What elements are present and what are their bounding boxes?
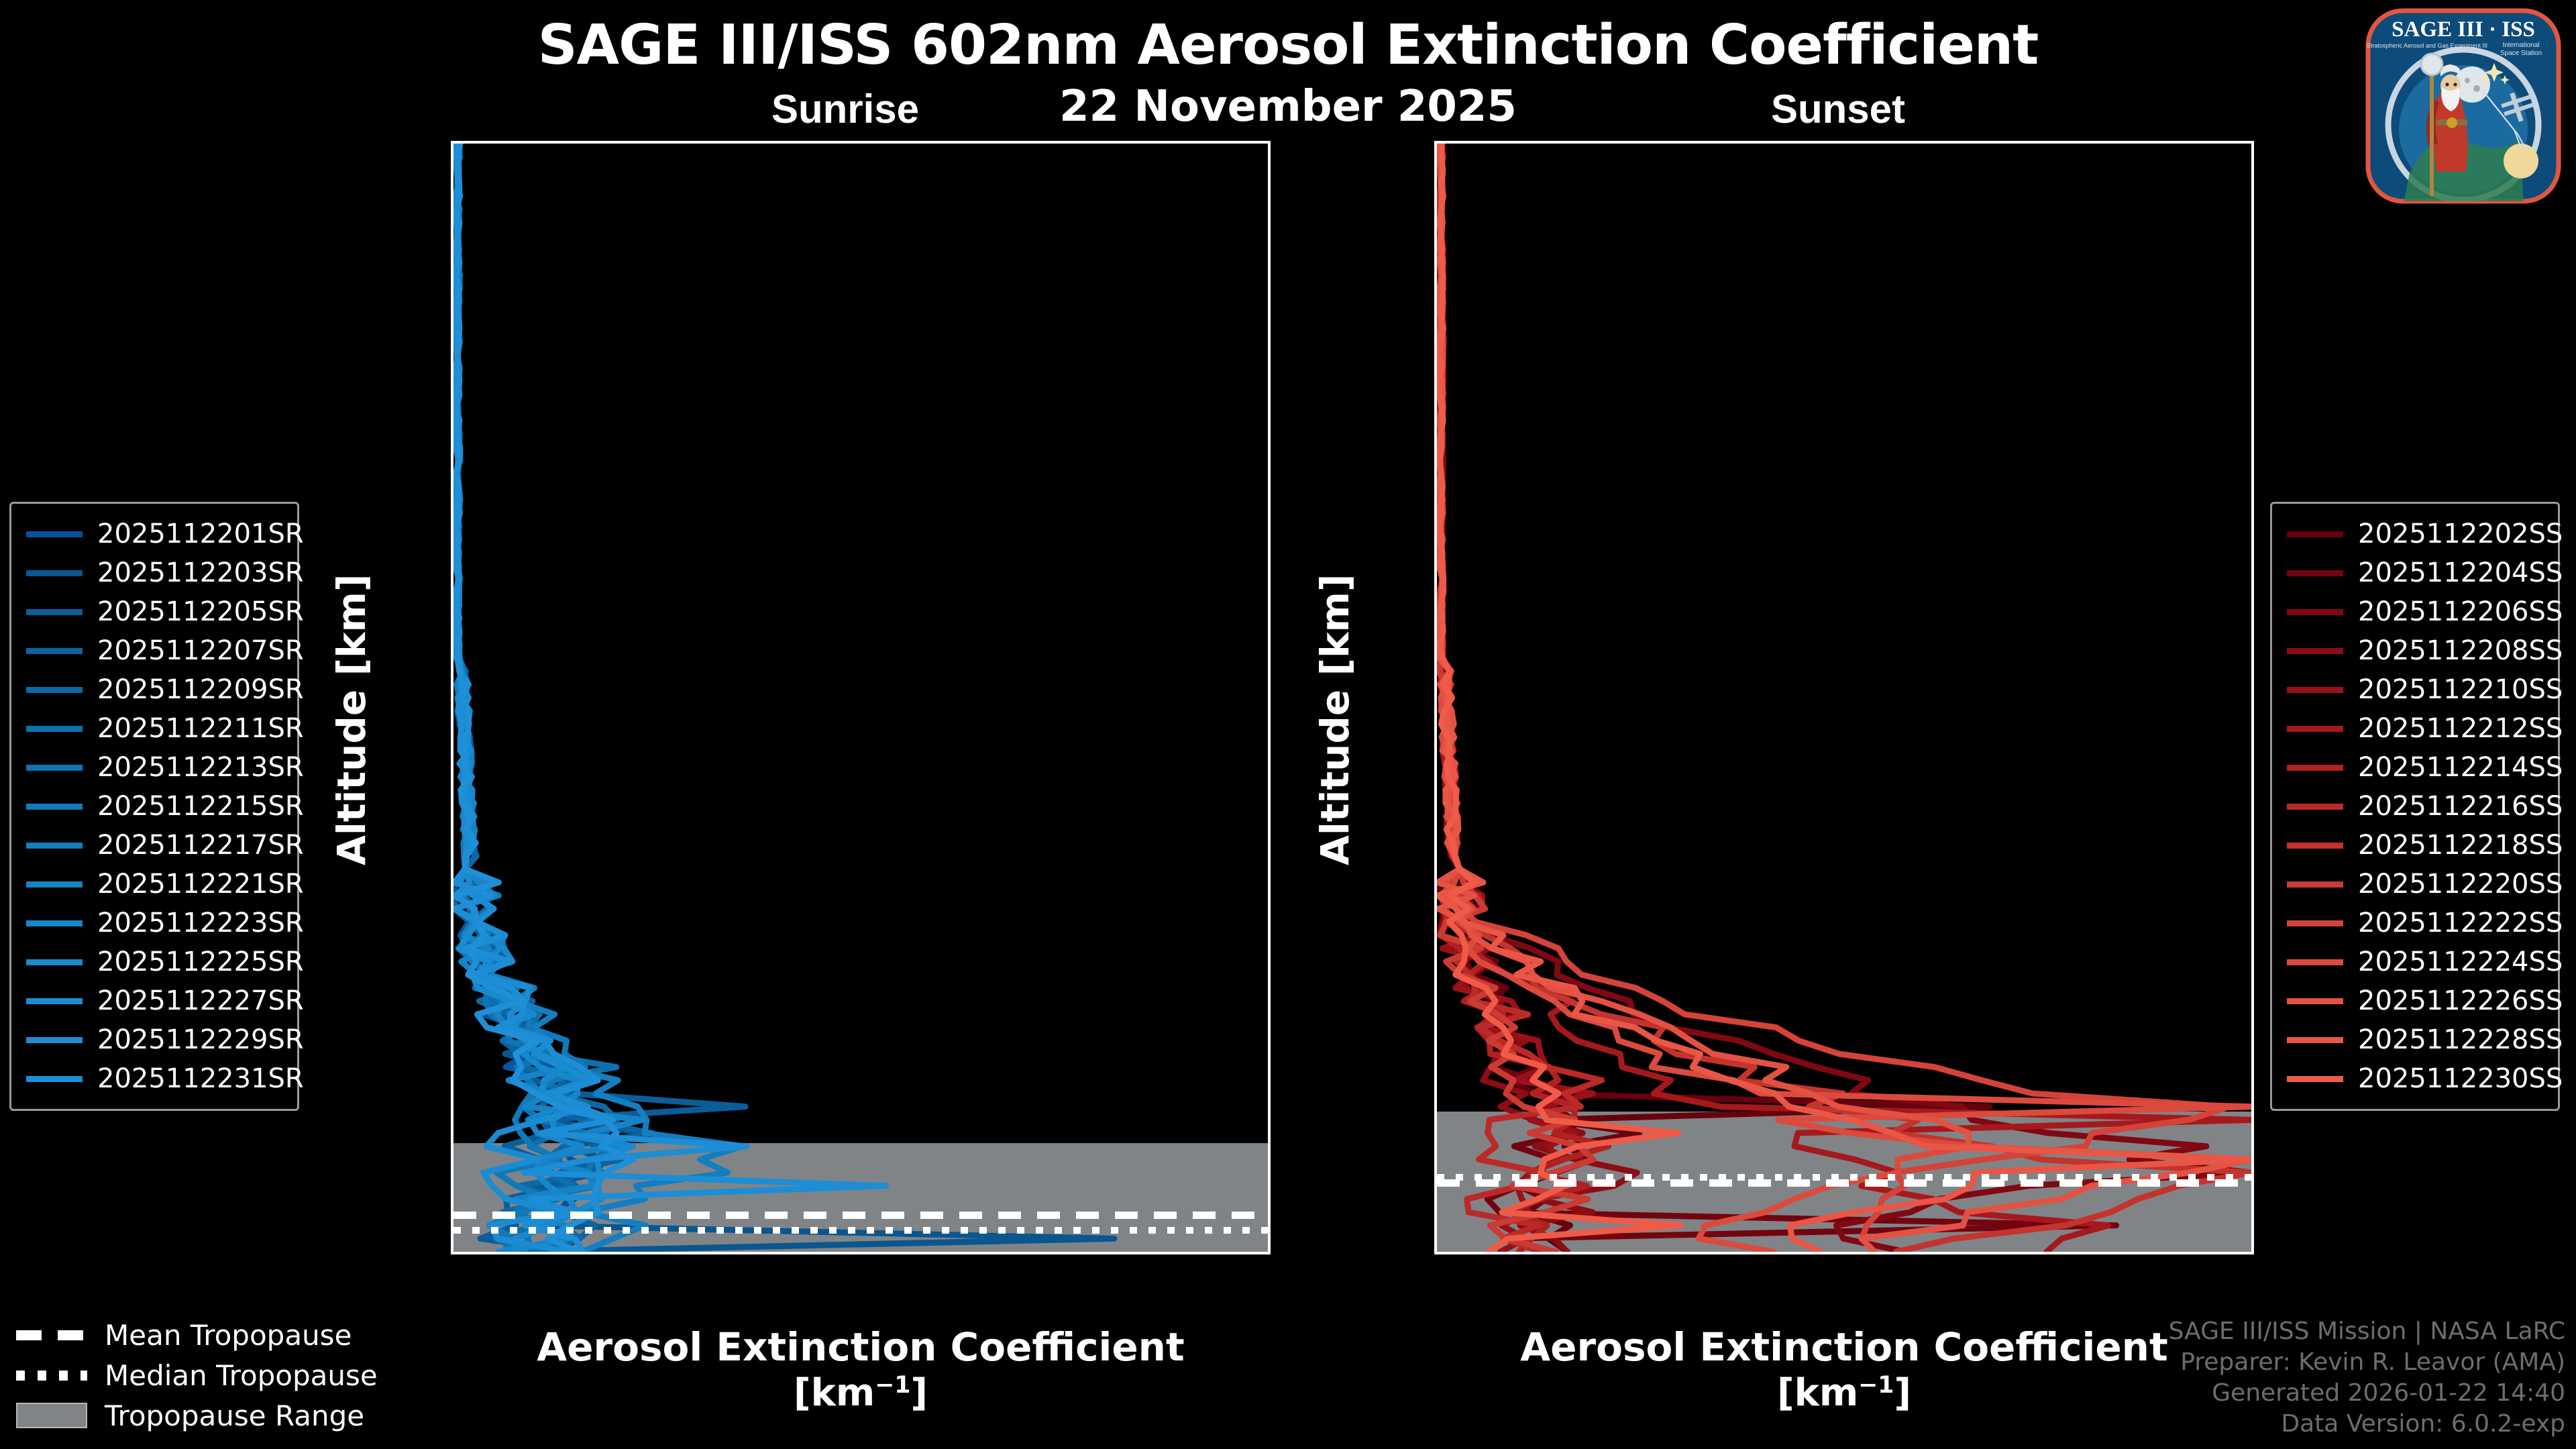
credit-line-version: Data Version: 6.0.2-exp bbox=[2169, 1409, 2565, 1440]
y-axis-label-right: Altitude [km] bbox=[1312, 574, 1358, 865]
y-axis-tick bbox=[451, 1070, 453, 1073]
legend-item-event[interactable]: 2025112213SR bbox=[26, 748, 282, 787]
legend-event-label: 2025112224SS bbox=[2358, 947, 2563, 977]
y-axis-tick bbox=[1434, 540, 1437, 543]
sunset-plot-panel: 1015202530354045500.0000.0020.0040.0060.… bbox=[1434, 141, 2254, 1254]
color-swatch-icon bbox=[2287, 765, 2343, 771]
legend-item-median-tropopause: Median Tropopause bbox=[16, 1355, 378, 1395]
legend-event-label: 2025112229SR bbox=[97, 1024, 304, 1055]
color-swatch-icon bbox=[26, 687, 83, 693]
logo-subtitle-right-1: International bbox=[2502, 42, 2539, 49]
color-swatch-icon bbox=[2287, 998, 2343, 1004]
legend-event-label: 2025112227SR bbox=[97, 985, 304, 1016]
sunrise-plot-panel: 1015202530354045500.0000.0020.0040.0060.… bbox=[451, 141, 1271, 1254]
x-axis-tick bbox=[1599, 1252, 1602, 1254]
color-swatch-icon bbox=[26, 531, 83, 537]
legend-item-event[interactable]: 2025112202SS bbox=[2287, 515, 2543, 553]
legend-item-event[interactable]: 2025112227SR bbox=[26, 981, 282, 1020]
legend-event-label: 2025112205SR bbox=[97, 596, 304, 627]
legend-label-median-tropopause: Median Tropopause bbox=[105, 1359, 378, 1392]
legend-event-label: 2025112215SR bbox=[97, 791, 304, 822]
legend-event-label: 2025112216SS bbox=[2358, 791, 2563, 822]
legend-item-event[interactable]: 2025112208SS bbox=[2287, 631, 2543, 670]
color-swatch-icon bbox=[26, 998, 83, 1004]
color-swatch-icon bbox=[2287, 531, 2343, 537]
color-swatch-icon bbox=[2287, 843, 2343, 849]
y-axis-tick bbox=[1434, 938, 1437, 941]
gray-swatch-icon bbox=[16, 1403, 87, 1428]
tropopause-legend: Mean Tropopause Median Tropopause Tropop… bbox=[16, 1315, 378, 1436]
x-axis-tick bbox=[1927, 1252, 1930, 1254]
legend-item-event[interactable]: 2025112204SS bbox=[2287, 553, 2543, 592]
legend-item-event[interactable]: 2025112211SR bbox=[26, 709, 282, 748]
median-tropopause-line bbox=[453, 1227, 1268, 1234]
profile-line bbox=[455, 144, 619, 1252]
y-axis-tick bbox=[1434, 142, 1437, 145]
color-swatch-icon bbox=[26, 920, 83, 926]
dashed-line-icon bbox=[16, 1330, 87, 1340]
legend-event-label: 2025112201SR bbox=[97, 519, 304, 549]
legend-item-event[interactable]: 2025112207SR bbox=[26, 631, 282, 670]
logo-title: SAGE III · ISS bbox=[2392, 17, 2535, 42]
x-axis-unit-left: [km−1] bbox=[794, 1371, 928, 1415]
y-axis-tick bbox=[451, 938, 453, 941]
y-axis-tick bbox=[1434, 805, 1437, 808]
y-axis-tick bbox=[451, 672, 453, 675]
profile-line bbox=[455, 144, 742, 1252]
page-title: SAGE III/ISS 602nm Aerosol Extinction Co… bbox=[0, 13, 2576, 77]
sage-iii-iss-mission-patch-logo: SAGE III · ISS Stratospheric Aerosol and… bbox=[2363, 5, 2564, 207]
color-swatch-icon bbox=[2287, 1037, 2343, 1043]
legend-event-label: 2025112204SS bbox=[2358, 557, 2563, 588]
credit-line-preparer: Preparer: Kevin R. Leavor (AMA) bbox=[2169, 1347, 2565, 1378]
credit-line-mission: SAGE III/ISS Mission | NASA LaRC bbox=[2169, 1316, 2565, 1347]
x-axis-unit-right: [km−1] bbox=[1777, 1371, 1911, 1415]
legend-item-event[interactable]: 2025112225SR bbox=[26, 943, 282, 981]
color-swatch-icon bbox=[2287, 920, 2343, 926]
legend-label-tropopause-range: Tropopause Range bbox=[105, 1399, 364, 1432]
x-axis-label-left-text: Aerosol Extinction Coefficient bbox=[537, 1324, 1184, 1370]
color-swatch-icon bbox=[26, 570, 83, 576]
legend-item-event[interactable]: 2025112215SR bbox=[26, 787, 282, 826]
color-swatch-icon bbox=[26, 726, 83, 732]
y-axis-tick bbox=[1434, 275, 1437, 278]
legend-item-tropopause-range: Tropopause Range bbox=[16, 1395, 378, 1436]
y-axis-tick bbox=[451, 805, 453, 808]
sunset-event-legend[interactable]: 2025112202SS2025112204SS2025112206SS2025… bbox=[2270, 502, 2560, 1111]
legend-event-label: 2025112203SR bbox=[97, 557, 304, 588]
y-axis-tick bbox=[451, 1203, 453, 1205]
logo-subtitle-left: Stratospheric Aerosol and Gas Experiment… bbox=[2367, 42, 2487, 49]
color-swatch-icon bbox=[2287, 648, 2343, 654]
color-swatch-icon bbox=[26, 804, 83, 810]
legend-item-event[interactable]: 2025112217SR bbox=[26, 826, 282, 865]
legend-event-label: 2025112207SR bbox=[97, 635, 304, 666]
legend-item-event[interactable]: 2025112220SS bbox=[2287, 865, 2543, 904]
y-axis-label-left: Altitude [km] bbox=[329, 574, 374, 865]
legend-event-label: 2025112228SS bbox=[2358, 1024, 2563, 1055]
legend-event-label: 2025112214SS bbox=[2358, 752, 2563, 783]
color-swatch-icon bbox=[2287, 570, 2343, 576]
mean-tropopause-line bbox=[453, 1212, 1268, 1219]
legend-event-label: 2025112222SS bbox=[2358, 908, 2563, 938]
panel-heading-sunrise: Sunrise bbox=[711, 86, 979, 132]
x-axis-tick bbox=[2092, 1252, 2094, 1254]
profile-line bbox=[1438, 144, 1989, 1252]
panel-heading-sunset: Sunset bbox=[1704, 86, 1972, 132]
legend-label-mean-tropopause: Mean Tropopause bbox=[105, 1319, 352, 1352]
legend-event-label: 2025112202SS bbox=[2358, 519, 2563, 549]
legend-event-label: 2025112210SS bbox=[2358, 674, 2563, 705]
legend-item-event[interactable]: 2025112222SS bbox=[2287, 904, 2543, 943]
legend-item-event[interactable]: 2025112223SR bbox=[26, 904, 282, 943]
x-axis-tick bbox=[780, 1252, 783, 1254]
legend-item-event[interactable]: 2025112205SR bbox=[26, 592, 282, 631]
credits-block: SAGE III/ISS Mission | NASA LaRC Prepare… bbox=[2169, 1316, 2565, 1440]
x-axis-tick bbox=[1436, 1252, 1438, 1254]
legend-event-label: 2025112206SS bbox=[2358, 596, 2563, 627]
x-axis-tick bbox=[616, 1252, 619, 1254]
legend-event-label: 2025112208SS bbox=[2358, 635, 2563, 666]
color-swatch-icon bbox=[26, 959, 83, 965]
legend-event-label: 2025112221SR bbox=[97, 869, 304, 900]
x-axis-label-left: Aerosol Extinction Coefficient [km−1] bbox=[451, 1325, 1271, 1415]
color-swatch-icon bbox=[2287, 959, 2343, 965]
profile-lines bbox=[453, 144, 1268, 1252]
legend-event-label: 2025112223SR bbox=[97, 908, 304, 938]
legend-item-event[interactable]: 2025112218SS bbox=[2287, 826, 2543, 865]
y-axis-tick bbox=[1434, 407, 1437, 410]
legend-event-label: 2025112225SR bbox=[97, 947, 304, 977]
legend-item-event[interactable]: 2025112212SS bbox=[2287, 709, 2543, 748]
legend-event-label: 2025112226SS bbox=[2358, 985, 2563, 1016]
legend-item-event[interactable]: 2025112216SS bbox=[2287, 787, 2543, 826]
profile-lines bbox=[1437, 144, 2251, 1252]
x-axis-label-right: Aerosol Extinction Coefficient [km−1] bbox=[1434, 1325, 2254, 1415]
x-axis-tick bbox=[452, 1252, 455, 1254]
legend-event-label: 2025112209SR bbox=[97, 674, 304, 705]
color-swatch-icon bbox=[2287, 1076, 2343, 1082]
legend-item-event[interactable]: 2025112228SS bbox=[2287, 1020, 2543, 1059]
legend-event-label: 2025112211SR bbox=[97, 713, 304, 744]
legend-item-event[interactable]: 2025112201SR bbox=[26, 515, 282, 553]
legend-item-event[interactable]: 2025112229SR bbox=[26, 1020, 282, 1059]
color-swatch-icon bbox=[2287, 726, 2343, 732]
y-axis-tick bbox=[451, 142, 453, 145]
color-swatch-icon bbox=[26, 881, 83, 888]
dotted-line-icon bbox=[16, 1371, 87, 1381]
x-axis-tick bbox=[1764, 1252, 1766, 1254]
x-axis-tick bbox=[944, 1252, 947, 1254]
color-swatch-icon bbox=[2287, 881, 2343, 888]
x-axis-label-right-text: Aerosol Extinction Coefficient bbox=[1520, 1324, 2167, 1370]
legend-item-event[interactable]: 2025112206SS bbox=[2287, 592, 2543, 631]
logo-subtitle-right-2: Space Station bbox=[2500, 50, 2542, 57]
y-axis-tick bbox=[1434, 1070, 1437, 1073]
sunrise-event-legend[interactable]: 2025112201SR2025112203SR2025112205SR2025… bbox=[9, 502, 299, 1111]
color-swatch-icon bbox=[26, 1076, 83, 1082]
color-swatch-icon bbox=[26, 843, 83, 849]
date-subtitle: 22 November 2025 bbox=[0, 82, 2576, 131]
legend-item-event[interactable]: 2025112231SR bbox=[26, 1059, 282, 1098]
y-axis-tick bbox=[1434, 672, 1437, 675]
y-axis-tick bbox=[451, 540, 453, 543]
legend-item-event[interactable]: 2025112203SR bbox=[26, 553, 282, 592]
y-axis-tick bbox=[451, 407, 453, 410]
legend-event-label: 2025112218SS bbox=[2358, 830, 2563, 861]
legend-item-event[interactable]: 2025112230SS bbox=[2287, 1059, 2543, 1098]
y-axis-tick bbox=[1434, 1203, 1437, 1205]
median-tropopause-line bbox=[1437, 1174, 2251, 1181]
profile-line bbox=[455, 144, 745, 1252]
legend-item-event[interactable]: 2025112221SR bbox=[26, 865, 282, 904]
legend-event-label: 2025112231SR bbox=[97, 1063, 304, 1094]
legend-item-event[interactable]: 2025112224SS bbox=[2287, 943, 2543, 981]
legend-item-event[interactable]: 2025112214SS bbox=[2287, 748, 2543, 787]
legend-event-label: 2025112230SS bbox=[2358, 1063, 2563, 1094]
color-swatch-icon bbox=[26, 648, 83, 654]
legend-item-event[interactable]: 2025112209SR bbox=[26, 670, 282, 709]
color-swatch-icon bbox=[26, 1037, 83, 1043]
legend-item-mean-tropopause: Mean Tropopause bbox=[16, 1315, 378, 1355]
credit-line-generated: Generated 2026-01-22 14:40 bbox=[2169, 1378, 2565, 1409]
legend-event-label: 2025112220SS bbox=[2358, 869, 2563, 900]
legend-item-event[interactable]: 2025112210SS bbox=[2287, 670, 2543, 709]
color-swatch-icon bbox=[26, 609, 83, 615]
legend-item-event[interactable]: 2025112226SS bbox=[2287, 981, 2543, 1020]
legend-event-label: 2025112213SR bbox=[97, 752, 304, 783]
color-swatch-icon bbox=[2287, 804, 2343, 810]
legend-event-label: 2025112217SR bbox=[97, 830, 304, 861]
color-swatch-icon bbox=[2287, 687, 2343, 693]
legend-event-label: 2025112212SS bbox=[2358, 713, 2563, 744]
color-swatch-icon bbox=[26, 765, 83, 771]
color-swatch-icon bbox=[2287, 609, 2343, 615]
y-axis-tick bbox=[451, 275, 453, 278]
x-axis-tick bbox=[1108, 1252, 1111, 1254]
